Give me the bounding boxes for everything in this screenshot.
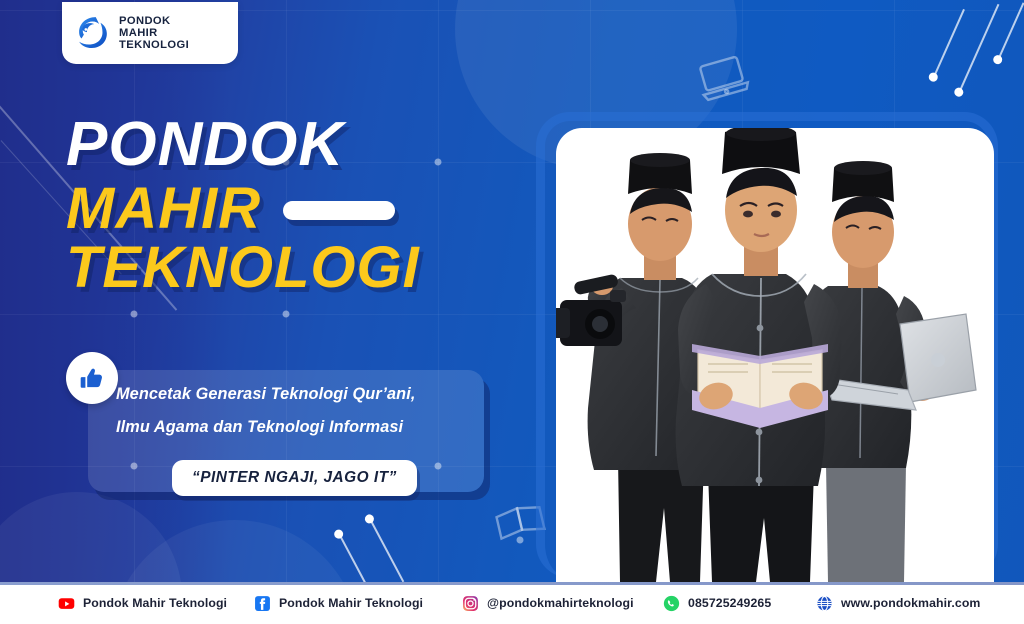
three-students-illustration xyxy=(556,128,994,582)
tagline-text: Mencetak Generasi Teknologi Qur’ani, Ilm… xyxy=(116,386,496,453)
headline-dash xyxy=(283,201,395,220)
logo-chip[interactable]: PONDOK MAHIR TEKNOLOGI xyxy=(62,2,238,64)
grid-node-dot xyxy=(283,311,290,318)
instagram-icon xyxy=(462,595,479,612)
footer-item-youtube[interactable]: Pondok Mahir Teknologi xyxy=(58,595,227,612)
logo-line-2: MAHIR TEKNOLOGI xyxy=(119,27,226,51)
footer-label-youtube: Pondok Mahir Teknologi xyxy=(83,596,227,610)
footer-label-website: www.pondokmahir.com xyxy=(841,596,980,610)
facebook-icon xyxy=(254,595,271,612)
students-photo xyxy=(556,128,994,582)
footer-label-whatsapp: 085725249265 xyxy=(688,596,771,610)
footer-label-facebook: Pondok Mahir Teknologi xyxy=(279,596,423,610)
headline-row-2: MAHIR xyxy=(66,181,536,236)
globe-icon xyxy=(816,595,833,612)
slogan-pill: “PINTER NGAJI, JAGO IT” xyxy=(172,460,417,496)
headline-block: PONDOK MAHIR TEKNOLOGI xyxy=(66,116,536,295)
youtube-icon xyxy=(58,595,75,612)
grid-node-dot xyxy=(131,311,138,318)
laptop-outline-icon xyxy=(696,56,750,102)
promotional-banner: PONDOK MAHIR TEKNOLOGI PONDOK MAHIR TEKN… xyxy=(0,0,1024,624)
peacock-logo-icon xyxy=(72,14,110,52)
video-camera xyxy=(556,274,626,346)
thumbs-up-icon xyxy=(79,365,106,392)
footer-label-instagram: @pondokmahirteknologi xyxy=(487,596,634,610)
footer-item-whatsapp[interactable]: 085725249265 xyxy=(663,595,771,612)
logo-wordmark: PONDOK MAHIR TEKNOLOGI xyxy=(119,15,226,51)
headline-line-3: TEKNOLOGI xyxy=(66,240,536,295)
tagline-line-2: Ilmu Agama dan Teknologi Informasi xyxy=(116,419,496,435)
footer-item-instagram[interactable]: @pondokmahirteknologi xyxy=(462,595,634,612)
tagline-line-1: Mencetak Generasi Teknologi Qur’ani, xyxy=(116,386,496,402)
footer-item-website[interactable]: www.pondokmahir.com xyxy=(816,595,980,612)
footer-divider xyxy=(0,582,1024,585)
whatsapp-icon xyxy=(663,595,680,612)
footer-item-facebook[interactable]: Pondok Mahir Teknologi xyxy=(254,595,423,612)
headline-line-1: PONDOK xyxy=(66,116,536,175)
slogan-text: “PINTER NGAJI, JAGO IT” xyxy=(192,469,397,486)
logo-line-1: PONDOK xyxy=(119,15,226,27)
thumbs-up-badge xyxy=(66,352,118,404)
footer-contact-bar: Pondok Mahir Teknologi Pondok Mahir Tekn… xyxy=(0,582,1024,624)
headline-line-2: MAHIR xyxy=(66,181,261,236)
